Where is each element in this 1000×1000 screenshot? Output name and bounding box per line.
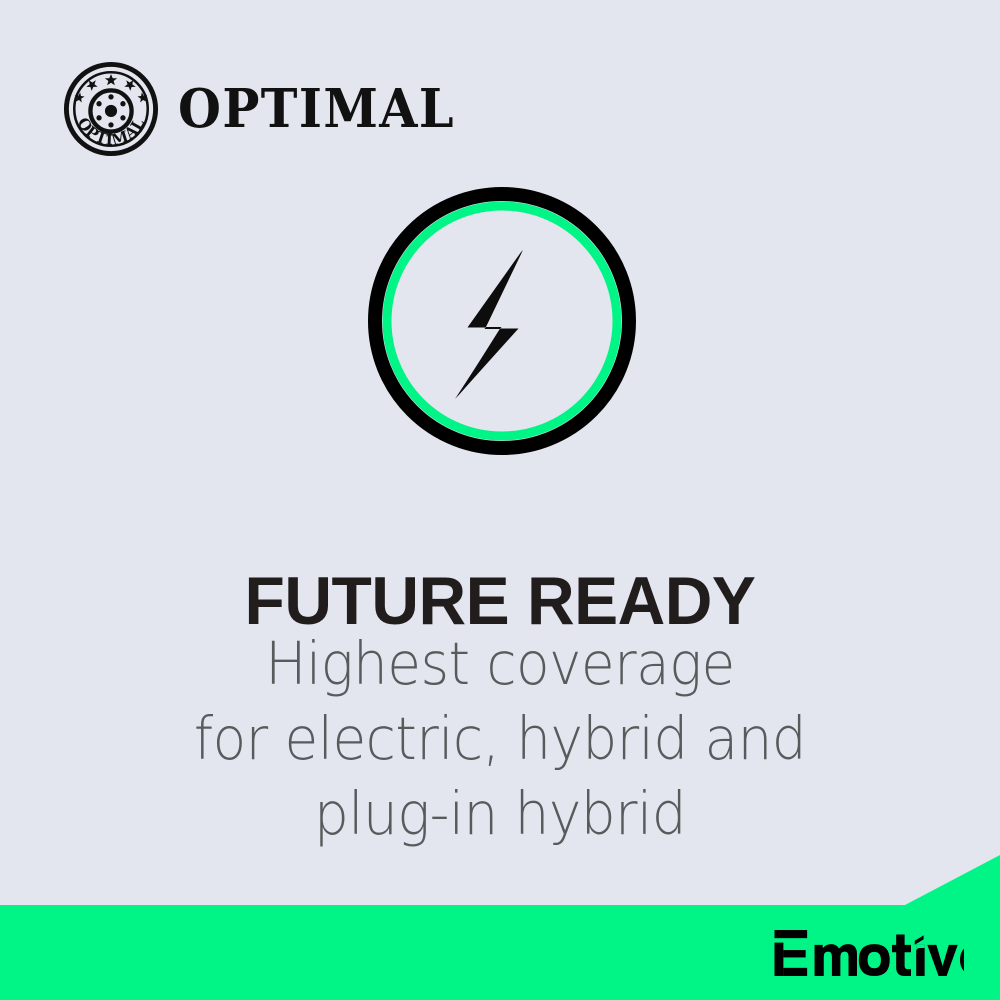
emotive-wordmark-logo: Emotive xyxy=(773,930,964,976)
footer-banner: Emotive xyxy=(0,855,1000,1000)
lightning-bolt-icon xyxy=(457,250,523,397)
page-title: FUTURE READY xyxy=(15,567,985,635)
optimal-wheel-badge-icon: OPTIMAL xyxy=(62,60,160,158)
subhead-line-1: Highest coverage xyxy=(35,626,965,701)
poster-canvas: OPTIMAL OPTIMAL FUTURE READY Highest cov… xyxy=(0,0,1000,1000)
brand-lockup: OPTIMAL OPTIMAL xyxy=(62,60,476,158)
hero-icon-circle xyxy=(368,187,636,455)
subhead-line-3: plug-in hybrid xyxy=(35,776,965,851)
subhead-line-2: for electric, hybrid and xyxy=(35,701,965,776)
subhead-block: Highest coverage for electric, hybrid an… xyxy=(0,626,1000,851)
brand-wordmark: OPTIMAL xyxy=(178,83,455,136)
